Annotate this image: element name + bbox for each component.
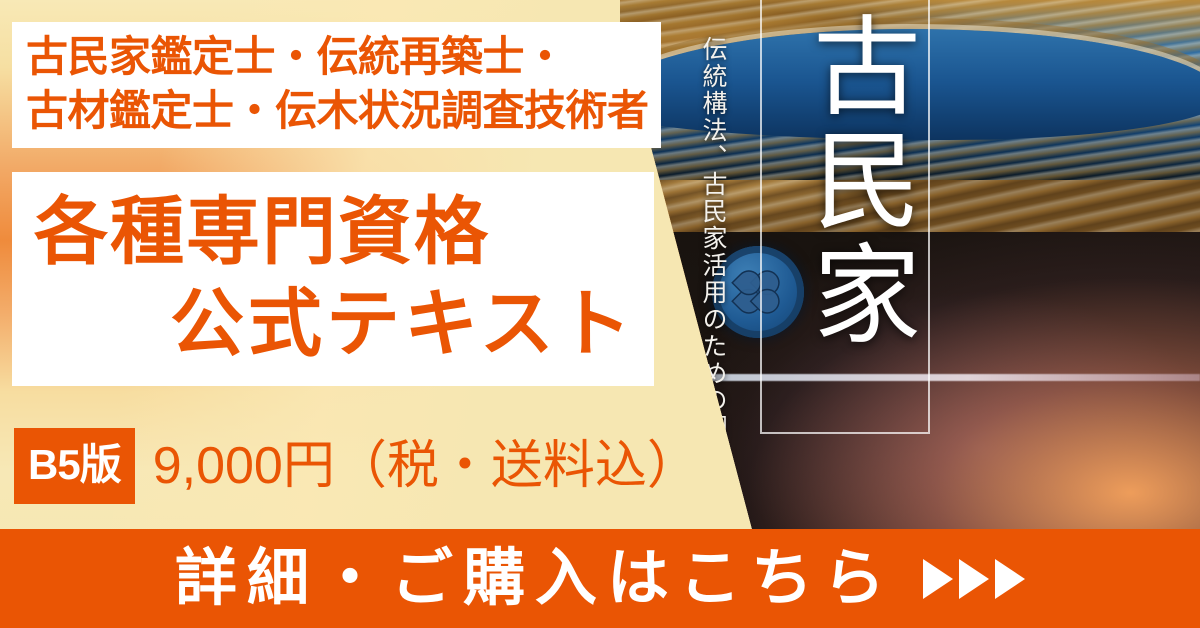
cta-label: 詳細・ご購入はこちら bbox=[175, 548, 895, 610]
chevron-right-icon bbox=[959, 559, 989, 599]
cta-bar[interactable]: 詳細・ご購入はこちら bbox=[0, 529, 1200, 628]
credentials-line-1: 古民家鑑定士・伝統再築士・ bbox=[12, 22, 578, 84]
format-badge: B5版 bbox=[14, 428, 135, 504]
price-row: B5版 9,000円（税・送料込） bbox=[14, 428, 699, 504]
chevron-right-icon bbox=[995, 559, 1025, 599]
price-amount: 9,000円（税・送料込） bbox=[153, 440, 699, 492]
promo-banner: 古民家 伝統構法、古民家活用のための調査と再生の 古民家鑑定士・伝統再築士・ 古… bbox=[0, 0, 1200, 628]
credentials-panel: 古民家鑑定士・伝統再築士・ 古材鑑定士・伝木状況調査技術者 bbox=[12, 22, 661, 148]
credentials-line-2: 古材鑑定士・伝木状況調査技術者 bbox=[12, 84, 661, 148]
chevron-right-icon bbox=[923, 559, 953, 599]
headline-line-1: 各種専門資格 bbox=[12, 172, 508, 278]
headline-line-2: 公式テキスト bbox=[12, 278, 654, 386]
book-title: 古民家 bbox=[770, 10, 920, 352]
headline-panel: 各種専門資格 公式テキスト bbox=[12, 172, 654, 386]
cta-arrow-group bbox=[923, 559, 1025, 599]
